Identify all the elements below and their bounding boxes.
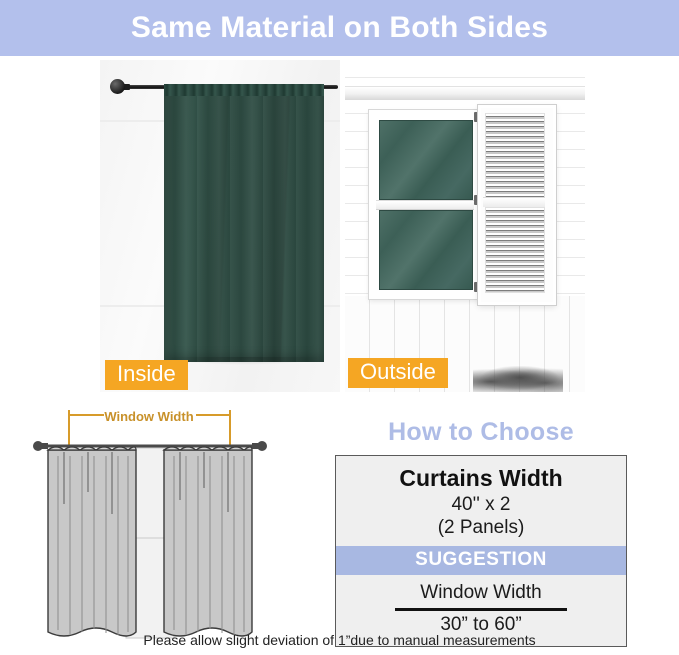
curtains-width-size: 40'' x 2 — [336, 494, 626, 517]
window-width-fraction: Window Width 30” to 60” — [336, 575, 626, 636]
shutter-mid-rail — [483, 197, 545, 207]
outside-label-badge: Outside — [348, 358, 448, 388]
deviation-note: Please allow slight deviation of 1”due t… — [0, 632, 679, 648]
window-width-diagram: Window Width — [18, 396, 286, 648]
curtain-rod-pocket-gathers — [164, 84, 324, 96]
outside-photo — [345, 60, 585, 392]
inside-label-badge: Inside — [105, 360, 188, 390]
curtain-panel-left — [48, 450, 136, 636]
shutter-louvers-bottom — [485, 207, 545, 293]
curtains-panel-count: (2 Panels) — [336, 517, 626, 546]
foliage — [473, 366, 563, 392]
curtains-width-heading: Curtains Width — [336, 456, 626, 494]
curtain-panel-right — [164, 450, 252, 636]
header-banner: Same Material on Both Sides — [0, 0, 679, 56]
window-pane-top — [379, 120, 473, 200]
how-to-choose-section: How to Choose Curtains Width 40'' x 2 (2… — [296, 418, 666, 647]
photo-comparison-row — [0, 56, 679, 392]
window-sash-rail — [376, 200, 474, 210]
window-pane-bottom — [379, 210, 473, 290]
green-curtain-panel — [164, 87, 324, 362]
fraction-bar — [395, 608, 567, 611]
size-guide-card: Curtains Width 40'' x 2 (2 Panels) SUGGE… — [335, 455, 627, 647]
suggestion-band: SUGGESTION — [336, 546, 626, 575]
how-to-choose-title: How to Choose — [296, 418, 666, 447]
shutter-louvers-top — [485, 113, 545, 199]
window-frame — [369, 110, 481, 299]
inside-photo — [100, 60, 340, 392]
eave-trim — [345, 86, 585, 100]
curtain-rod-finial — [110, 79, 125, 94]
window-width-measure-label: Window Width — [104, 409, 193, 424]
louvered-shutter — [478, 105, 556, 305]
page-title: Same Material on Both Sides — [131, 11, 548, 45]
fraction-numerator: Window Width — [336, 582, 626, 604]
